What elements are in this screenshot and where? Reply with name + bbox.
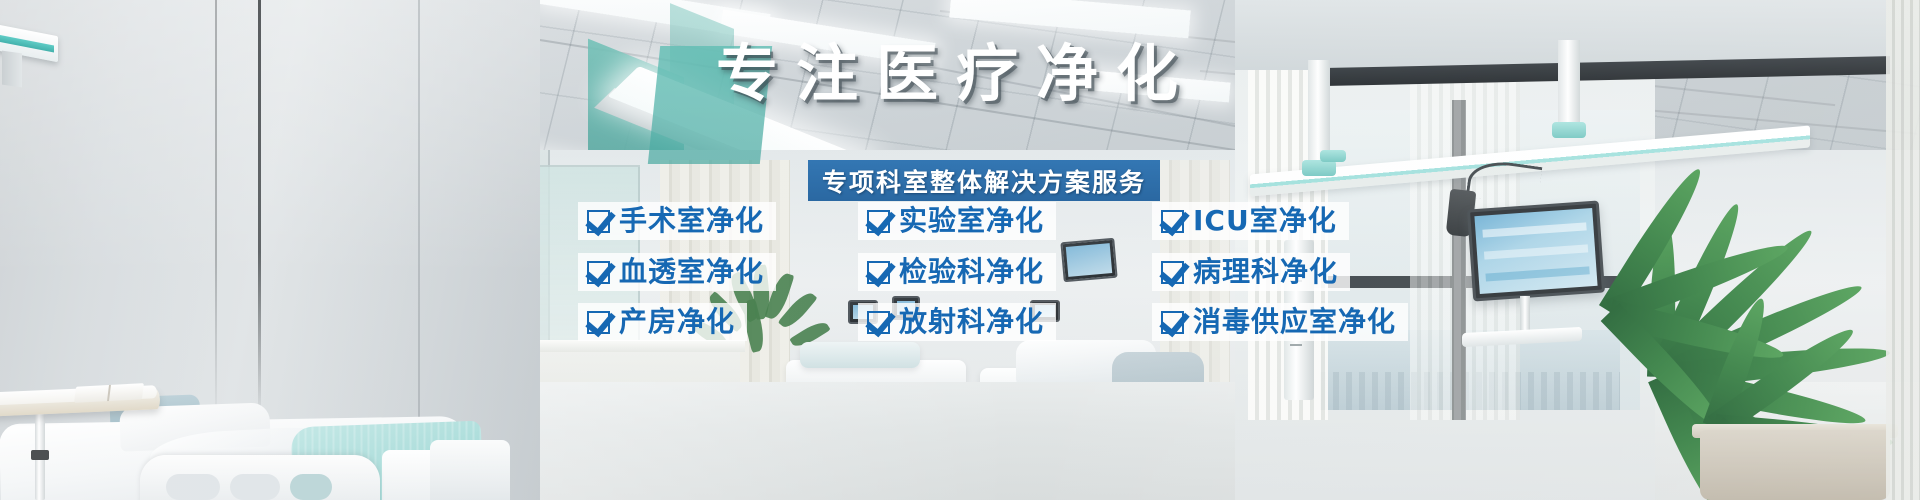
- feature-label: 手术室净化: [619, 207, 764, 235]
- checkbox-checked-icon: [587, 311, 610, 334]
- checkbox-checked-icon: [867, 210, 890, 233]
- checkbox-checked-icon: [1161, 261, 1184, 284]
- feature-label: 检验科净化: [899, 258, 1044, 286]
- page-title: 专注医疗净化: [716, 40, 1196, 108]
- checkbox-checked-icon: [867, 311, 890, 334]
- feature-label: 病理科净化: [1193, 258, 1338, 286]
- checkbox-checked-icon: [1161, 311, 1184, 334]
- checkbox-checked-icon: [1161, 210, 1184, 233]
- feature-label: 血透室净化: [619, 258, 764, 286]
- feature-item-radiology[interactable]: 放射科净化: [858, 303, 1056, 341]
- subtitle-banner: 专项科室整体解决方案服务: [808, 160, 1160, 201]
- banner-text-overlay: 专注医疗净化 专项科室整体解决方案服务 手术室净化 血透室净化 产房净化 实验室…: [0, 0, 1920, 500]
- feature-label: 实验室净化: [899, 207, 1044, 235]
- checkbox-checked-icon: [587, 261, 610, 284]
- feature-item-pathology[interactable]: 病理科净化: [1152, 253, 1350, 291]
- subtitle-text: 专项科室整体解决方案服务: [822, 163, 1146, 199]
- feature-label: 产房净化: [619, 308, 735, 336]
- feature-item-clinical-lab[interactable]: 检验科净化: [858, 253, 1056, 291]
- checkbox-checked-icon: [867, 261, 890, 284]
- medical-purification-banner: 专注医疗净化 专项科室整体解决方案服务 手术室净化 血透室净化 产房净化 实验室…: [0, 0, 1920, 500]
- feature-item-delivery-room[interactable]: 产房净化: [578, 303, 747, 341]
- feature-item-cssd[interactable]: 消毒供应室净化: [1152, 303, 1408, 341]
- feature-item-operating-room[interactable]: 手术室净化: [578, 202, 776, 240]
- feature-item-dialysis-room[interactable]: 血透室净化: [578, 253, 776, 291]
- feature-label: ICU室净化: [1193, 207, 1337, 235]
- feature-label: 放射科净化: [899, 308, 1044, 336]
- feature-label: 消毒供应室净化: [1193, 308, 1396, 336]
- feature-item-laboratory[interactable]: 实验室净化: [858, 202, 1056, 240]
- checkbox-checked-icon: [587, 210, 610, 233]
- feature-item-icu[interactable]: ICU室净化: [1152, 202, 1349, 240]
